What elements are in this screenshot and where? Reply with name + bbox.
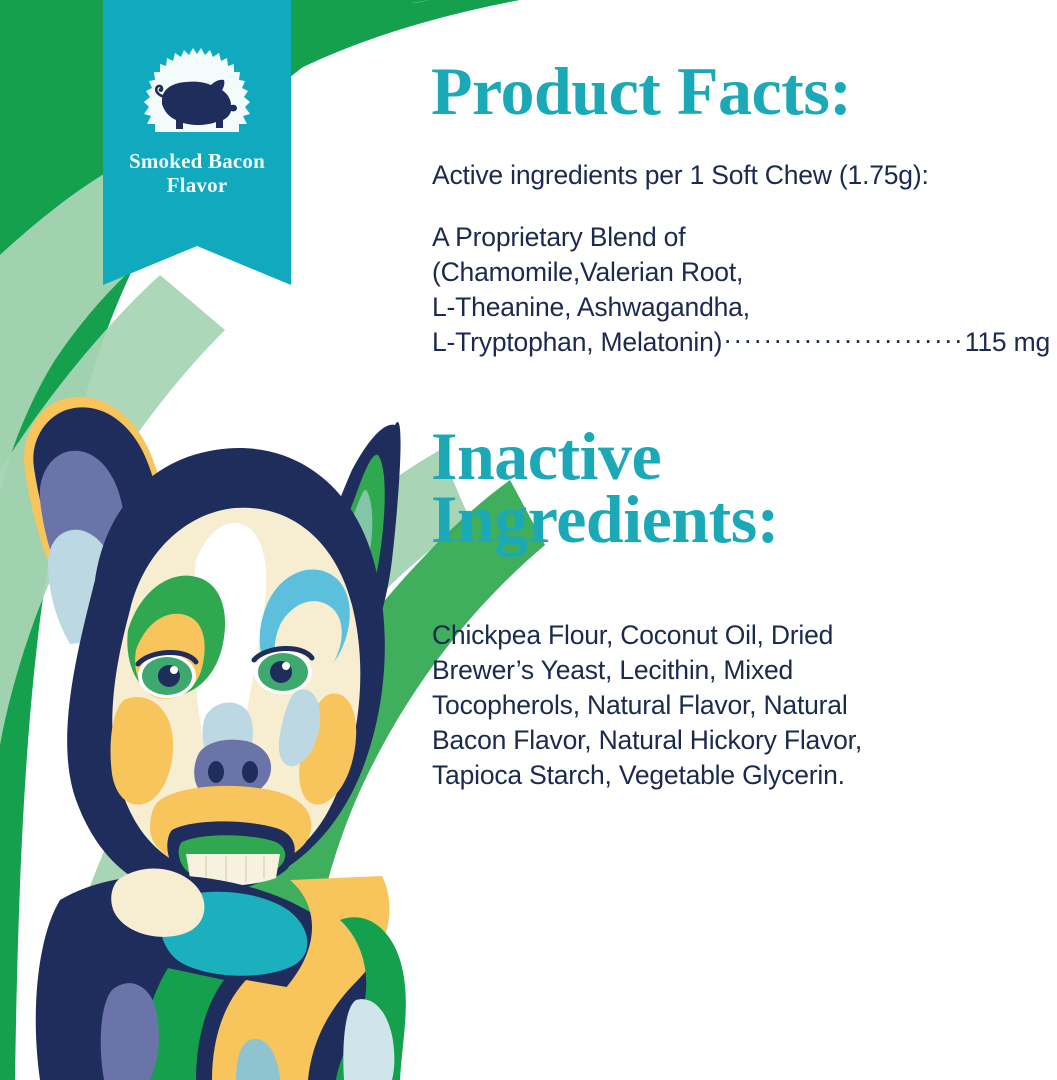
active-ingredient-line: A Proprietary Blend of xyxy=(432,220,1050,255)
pig-silhouette-starburst-badge xyxy=(138,48,256,136)
mint-diagonal-band xyxy=(40,450,470,1080)
active-ingredient-amount: 115 mg xyxy=(965,325,1050,360)
active-ingredient-line-final: L-Tryptophan, Melatonin) xyxy=(432,325,722,360)
flavor-banner: Smoked Bacon Flavor xyxy=(103,0,291,290)
pig-badge xyxy=(103,44,291,136)
pop-art-dog-illustration xyxy=(24,397,406,1080)
flavor-label: Smoked Bacon Flavor xyxy=(103,150,291,197)
inactive-ingredient-line: Brewer’s Yeast, Lecithin, Mixed xyxy=(432,653,1032,688)
inactive-title-line-2: Ingredients: xyxy=(431,481,779,557)
inactive-ingredient-line: Chickpea Flour, Coconut Oil, Dried xyxy=(432,618,1032,653)
inactive-ingredient-line: Bacon Flavor, Natural Hickory Flavor, xyxy=(432,723,1032,758)
dotted-leader xyxy=(723,323,963,350)
inactive-ingredient-line: Tapioca Starch, Vegetable Glycerin. xyxy=(432,758,1032,793)
serving-size-subtitle: Active ingredients per 1 Soft Chew (1.75… xyxy=(432,160,929,192)
inactive-ingredients-list: Chickpea Flour, Coconut Oil, Dried Brewe… xyxy=(432,618,1032,793)
active-ingredients-list: A Proprietary Blend of (Chamomile,Valeri… xyxy=(432,220,1050,360)
active-ingredient-amount-row: L-Tryptophan, Melatonin) 115 mg xyxy=(432,325,1050,360)
inactive-ingredient-line: Tocopherols, Natural Flavor, Natural xyxy=(432,688,1032,723)
active-ingredient-line: (Chamomile,Valerian Root, xyxy=(432,255,1050,290)
product-info-column: Product Facts: Active ingredients per 1 … xyxy=(431,0,1051,1080)
mint-accent-stripe-lower xyxy=(0,275,225,745)
page-title: Product Facts: xyxy=(431,57,851,125)
active-ingredient-line: L-Theanine, Ashwagandha, xyxy=(432,290,1050,325)
flavor-label-line-2: Flavor xyxy=(113,174,281,198)
inactive-ingredients-title: Inactive Ingredients: xyxy=(431,425,1031,551)
flavor-label-line-1: Smoked Bacon xyxy=(113,150,281,174)
product-facts-label: Smoked Bacon Flavor Product Facts: Activ… xyxy=(0,0,1057,1080)
